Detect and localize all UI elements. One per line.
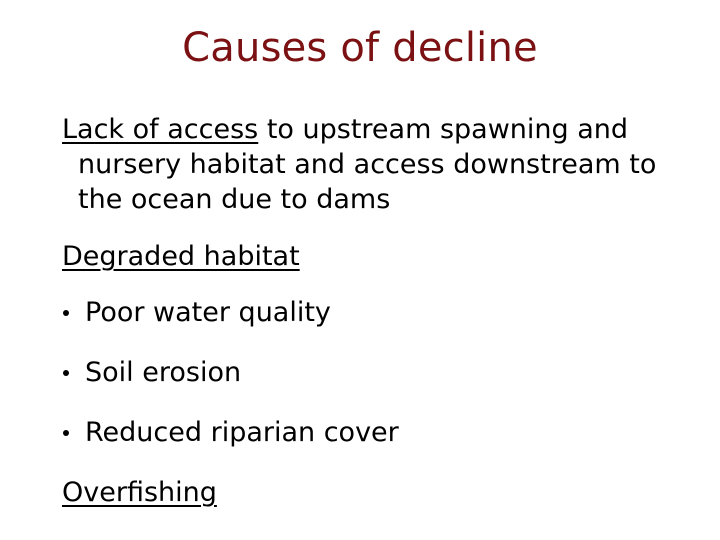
bullet-list: Poor water quality Soil erosion Reduced …	[62, 295, 678, 450]
section-heading-degraded-habitat: Degraded habitat	[62, 239, 678, 274]
section-heading-text: Degraded habitat	[62, 241, 300, 272]
list-item: Soil erosion	[62, 355, 678, 390]
paragraph-underlined-lead: Lack of access	[62, 114, 258, 145]
list-item-label: Soil erosion	[85, 357, 241, 388]
bullet-dot-icon	[63, 370, 69, 376]
closing-heading-text: Overfishing	[62, 477, 217, 508]
page-title: Causes of decline	[0, 24, 720, 72]
list-item: Poor water quality	[62, 295, 678, 330]
bullet-dot-icon	[63, 310, 69, 316]
list-item: Reduced riparian cover	[62, 415, 678, 450]
slide-body: Lack of access to upstream spawning and …	[62, 112, 678, 510]
list-item-label: Poor water quality	[85, 297, 331, 328]
slide-canvas: Causes of decline Lack of access to upst…	[0, 0, 720, 540]
bullet-dot-icon	[63, 430, 69, 436]
list-item-label: Reduced riparian cover	[85, 417, 399, 448]
closing-heading-overfishing: Overfishing	[62, 475, 678, 510]
paragraph-lack-of-access: Lack of access to upstream spawning and …	[62, 112, 678, 217]
